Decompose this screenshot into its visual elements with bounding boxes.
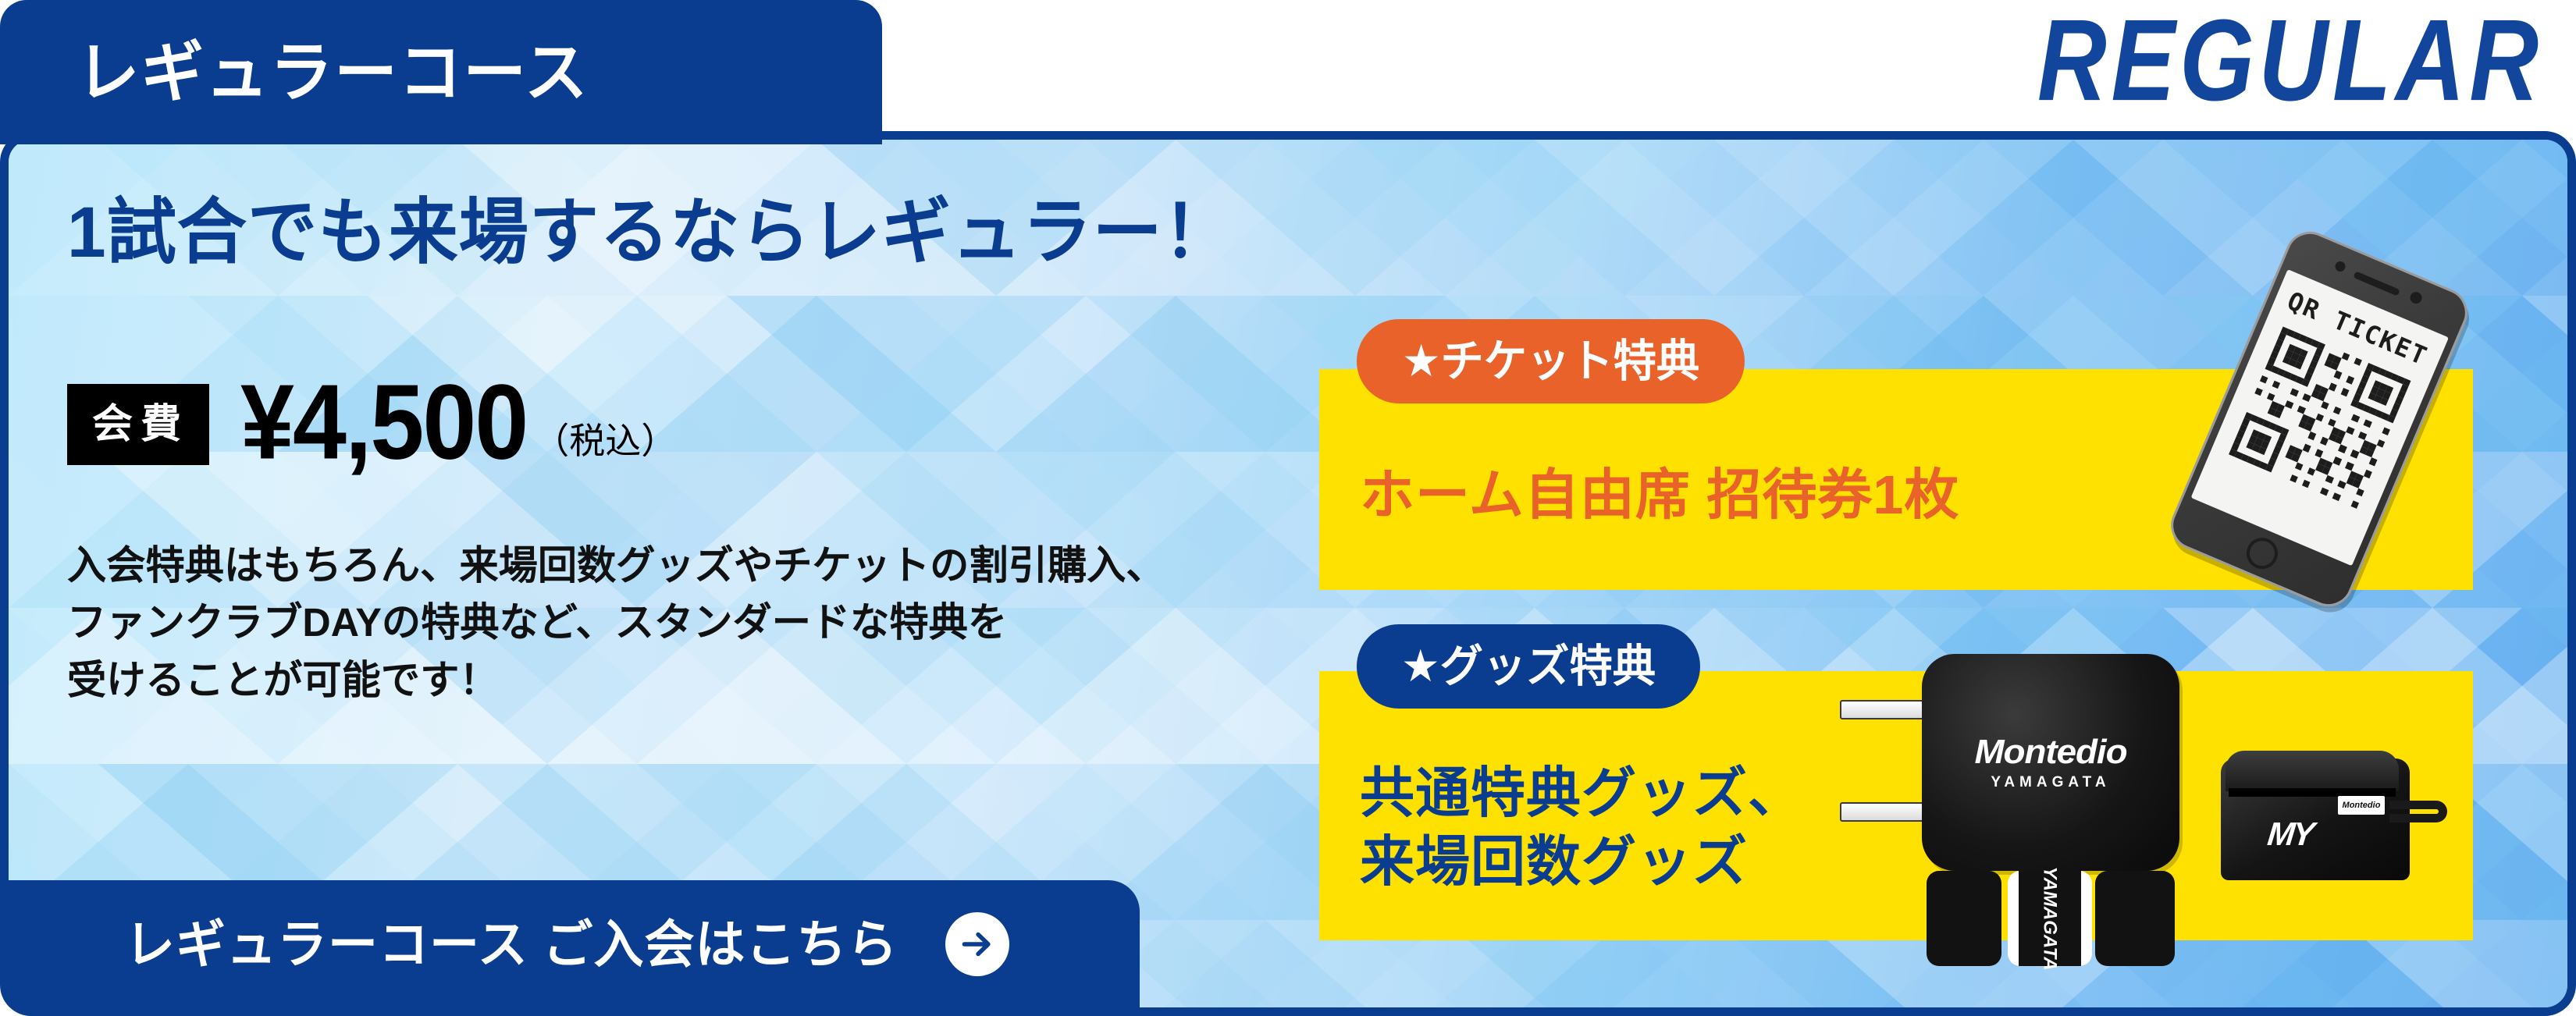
cushion-brand-text: Montedio xyxy=(1916,735,2184,769)
cushion-logo: Montedio YAMAGATA xyxy=(1922,735,2179,790)
course-tab: レギュラーコース xyxy=(0,0,882,144)
pouch-handle xyxy=(2389,801,2447,822)
arrow-right-icon xyxy=(945,912,1009,976)
goods-benefit-pill-label: ★グッズ特典 xyxy=(1401,645,1656,689)
goods-benefit-pill: ★グッズ特典 xyxy=(1357,624,1700,709)
towel-goods-image: YAMAGATA xyxy=(1927,871,2175,966)
goods-benefit-text-line-1: 共通特典グッズ、 xyxy=(1360,758,1803,827)
towel-brand-text: YAMAGATA xyxy=(2039,866,2061,970)
cushion-goods-image: Montedio YAMAGATA xyxy=(1922,654,2179,871)
cushion-strap-upper xyxy=(1840,700,1927,719)
pouch-logo-text: MY xyxy=(2266,818,2314,851)
pouch-goods-image: Montedio MY xyxy=(2221,751,2457,880)
regular-wordmark: REGULAR xyxy=(2037,3,2543,119)
headline: 1試合でも来場するならレギュラー！ xyxy=(67,197,1233,268)
ticket-benefit-pill: ★チケット特典 xyxy=(1357,319,1745,403)
cushion-subbrand-text: YAMAGATA xyxy=(1922,775,2179,790)
ticket-benefit-text: ホーム自由席 招待券1枚 xyxy=(1360,462,1959,528)
fee-badge: 会費 xyxy=(67,384,209,465)
join-course-button-label: レギュラーコース ご入会はこちら xyxy=(125,918,898,970)
towel-brand-band: YAMAGATA xyxy=(2019,871,2081,966)
towel-segment-right xyxy=(2095,871,2175,966)
body-copy-line-1: 入会特典はもちろん、来場回数グッズやチケットの割引購入、 xyxy=(67,537,1165,594)
pouch-top xyxy=(2226,751,2399,791)
cushion-strap-lower xyxy=(1840,802,1927,822)
fee-tax-note: （税込） xyxy=(533,423,677,459)
towel-segment-left xyxy=(1927,871,2001,966)
body-copy: 入会特典はもちろん、来場回数グッズやチケットの割引購入、 ファンクラブDAYの特… xyxy=(67,537,1165,709)
fee-amount: ¥4,500 xyxy=(240,374,527,471)
course-tab-label: レギュラーコース xyxy=(76,40,589,105)
ticket-benefit-pill-label: ★チケット特典 xyxy=(1402,339,1699,384)
membership-course-banner: レギュラーコース REGULAR 1試合でも来場するならレギュラー！ 会費 ¥4… xyxy=(0,0,2576,1016)
join-course-button[interactable]: レギュラーコース ご入会はこちら xyxy=(0,880,1140,1008)
pouch-tag-text: Montedio xyxy=(2343,801,2381,810)
body-copy-line-3: 受けることが可能です！ xyxy=(67,652,1165,709)
fee-row: 会費 ¥4,500 （税込） xyxy=(67,382,677,471)
goods-benefit-text: 共通特典グッズ、 来場回数グッズ xyxy=(1360,758,1803,896)
goods-benefit-text-line-2: 来場回数グッズ xyxy=(1360,827,1803,896)
pouch-brand-tag: Montedio xyxy=(2338,796,2385,815)
body-copy-line-2: ファンクラブDAYの特典など、スタンダードな特典を xyxy=(67,594,1165,651)
